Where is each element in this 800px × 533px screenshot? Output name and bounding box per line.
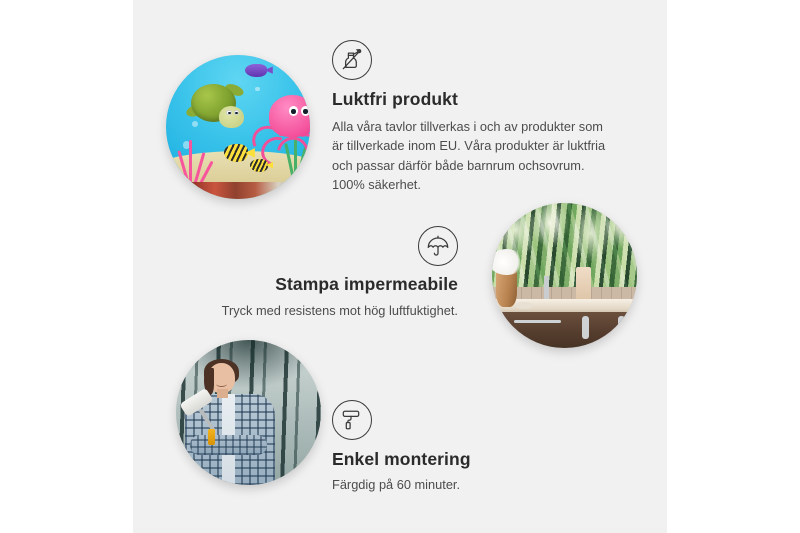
feature-waterproof: Stampa impermeabile Tryck med resistens … — [180, 226, 458, 320]
pink-coral-icon — [175, 136, 218, 185]
paint-roller-icon — [332, 400, 372, 440]
wooden-vanity-cabinet — [501, 312, 637, 348]
feature-title: Enkel montering — [332, 449, 612, 470]
feature-odourless: Luktfri produkt Alla våra tavlor tillver… — [332, 40, 617, 195]
feature-body: Tryck med resistens mot hög luftfuktighe… — [180, 301, 458, 320]
bathroom-tropical-wallpaper-photo — [492, 203, 637, 348]
feature-assembly: Enkel montering Färgdig på 60 minuter. — [332, 400, 612, 494]
faucet-icon — [544, 276, 548, 302]
no-fragrance-icon — [332, 40, 372, 80]
yellow-fish-icon — [250, 159, 269, 172]
sea-turtle-icon — [186, 84, 249, 133]
woman-figure — [185, 360, 275, 485]
feature-body: Alla våra tavlor tillverkas i och av pro… — [332, 117, 617, 195]
promo-banner: Luktfri produkt Alla våra tavlor tillver… — [0, 0, 800, 533]
umbrella-icon — [418, 226, 458, 266]
photo-bottom-edge — [166, 182, 310, 199]
purple-fish-icon — [245, 64, 267, 77]
feature-body: Färgdig på 60 minuter. — [332, 475, 612, 494]
yellow-fish-icon — [224, 144, 248, 161]
woman-paint-roller-forest-photo — [176, 340, 321, 485]
feature-title: Luktfri produkt — [332, 89, 617, 110]
octopus-icon — [250, 95, 310, 167]
feature-title: Stampa impermeabile — [180, 274, 458, 295]
soap-dish-icon — [515, 302, 532, 309]
underwater-cartoon-photo — [166, 55, 310, 199]
bubble-icon — [255, 87, 259, 91]
paint-roller-grip-icon — [208, 429, 215, 445]
